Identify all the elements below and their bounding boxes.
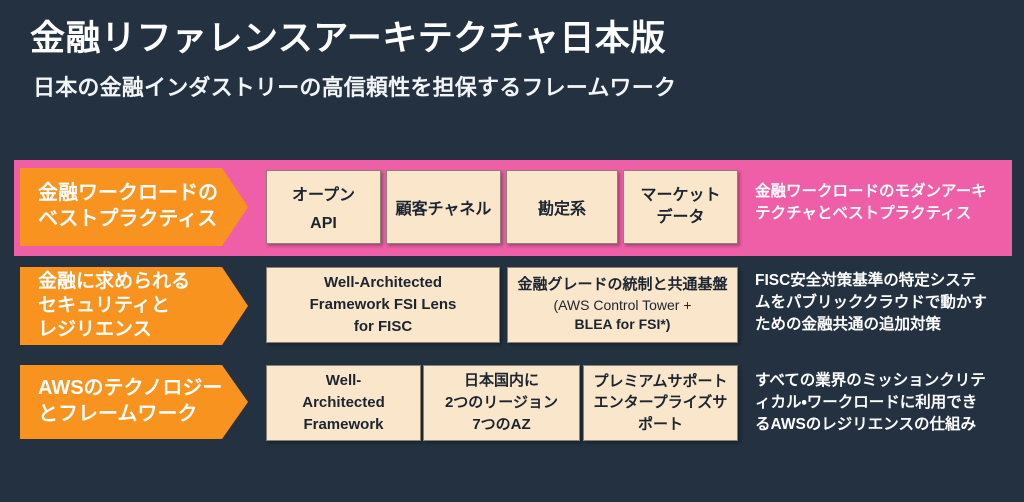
box-line: Framework FSI Lens — [310, 294, 457, 316]
row-security-resilience: 金融に求められる セキュリティと レジリエンス Well-Architected… — [0, 263, 1024, 351]
box-subtitle: (AWS Control Tower + — [553, 296, 691, 315]
box-line: Well- — [326, 370, 362, 392]
box-line: ポート — [638, 414, 683, 435]
box-line: データ — [656, 207, 704, 229]
box-premium-support[interactable]: プレミアムサポート エンタープライズサ ポート — [583, 365, 738, 441]
row-label-line: セキュリティと — [38, 294, 214, 318]
row-best-practices: 金融ワークロードの ベストプラクティス オープン API 顧客チャネル 勘定系 … — [0, 160, 1024, 256]
box-line: 勘定系 — [538, 195, 586, 219]
box-subtitle-bold: BLEA for FSI*) — [575, 315, 671, 334]
row-label-line: レジリエンス — [38, 318, 214, 342]
box-line: 日本国内に — [464, 370, 539, 392]
row-label-line: ベストプラクティス — [38, 207, 214, 233]
row-label-line: 金融に求められる — [38, 270, 214, 294]
row-label-arrow-best-practices[interactable]: 金融ワークロードの ベストプラクティス — [20, 168, 248, 246]
description-line: るAWSのレジリエンスの仕組み — [755, 414, 1010, 436]
box-open-api[interactable]: オープン API — [266, 170, 381, 244]
box-accounting[interactable]: 勘定系 — [506, 170, 618, 244]
page-subtitle: 日本の金融インダストリーの高信頼性を担保するフレームワーク — [33, 70, 676, 102]
row-description-security-resilience: FISC安全対策基準の特定システ ムをパブリッククラウドで動かす ための金融共通… — [755, 270, 1010, 336]
row-label-line: AWSのテクノロジー — [38, 376, 214, 402]
page-title: 金融リファレンスアーキテクチャ日本版 — [30, 10, 666, 61]
box-wa-fsi-lens[interactable]: Well-Architected Framework FSI Lens for … — [266, 267, 500, 343]
box-line: Well-Architected — [324, 272, 442, 294]
box-line: マーケット — [640, 185, 720, 207]
row-label-line: 金融ワークロードの — [38, 181, 214, 207]
description-line: ムをパブリッククラウドで動かす — [755, 292, 1010, 314]
row-label-arrow-aws-technology[interactable]: AWSのテクノロジー とフレームワーク — [20, 365, 248, 439]
row-aws-technology: AWSのテクノロジー とフレームワーク Well- Architected Fr… — [0, 360, 1024, 452]
box-market-data[interactable]: マーケット データ — [623, 170, 738, 244]
box-financial-grade-controls[interactable]: 金融グレードの統制と共通基盤 (AWS Control Tower + BLEA… — [507, 267, 738, 343]
box-customer-channel[interactable]: 顧客チャネル — [386, 170, 501, 244]
row-label-line: とフレームワーク — [38, 402, 214, 428]
box-line: 2つのリージョン — [445, 392, 558, 414]
box-line: オープン — [292, 181, 355, 205]
description-line: すべての業界のミッションクリテ — [755, 370, 1010, 392]
box-regions-az[interactable]: 日本国内に 2つのリージョン 7つのAZ — [423, 365, 580, 441]
row-description-best-practices: 金融ワークロードのモダンアーキ テクチャとベストプラクティス — [755, 181, 1010, 225]
description-line: FISC安全対策基準の特定システ — [755, 270, 1010, 292]
box-well-architected[interactable]: Well- Architected Framework — [266, 365, 421, 441]
row-description-aws-technology: すべての業界のミッションクリテ ィカル・ワークロードに利用でき るAWSのレジリ… — [755, 370, 1010, 436]
box-line: プレミアムサポート — [594, 371, 728, 392]
description-line: テクチャとベストプラクティス — [755, 203, 1010, 225]
box-line: 顧客チャネル — [396, 195, 492, 219]
box-line: 7つのAZ — [472, 414, 530, 436]
box-line: API — [310, 215, 337, 233]
box-line: エンタープライズサ — [594, 392, 728, 413]
row-label-arrow-security-resilience[interactable]: 金融に求められる セキュリティと レジリエンス — [20, 267, 248, 345]
box-title: 金融グレードの統制と共通基盤 — [517, 275, 727, 296]
description-line: ィカル・ワークロードに利用でき — [755, 392, 1010, 414]
description-line: 金融ワークロードのモダンアーキ — [755, 181, 1010, 203]
box-line: Architected — [302, 392, 385, 414]
description-line: ための金融共通の追加対策 — [755, 314, 1010, 336]
box-line: Framework — [303, 414, 383, 436]
box-line: for FISC — [354, 316, 412, 338]
